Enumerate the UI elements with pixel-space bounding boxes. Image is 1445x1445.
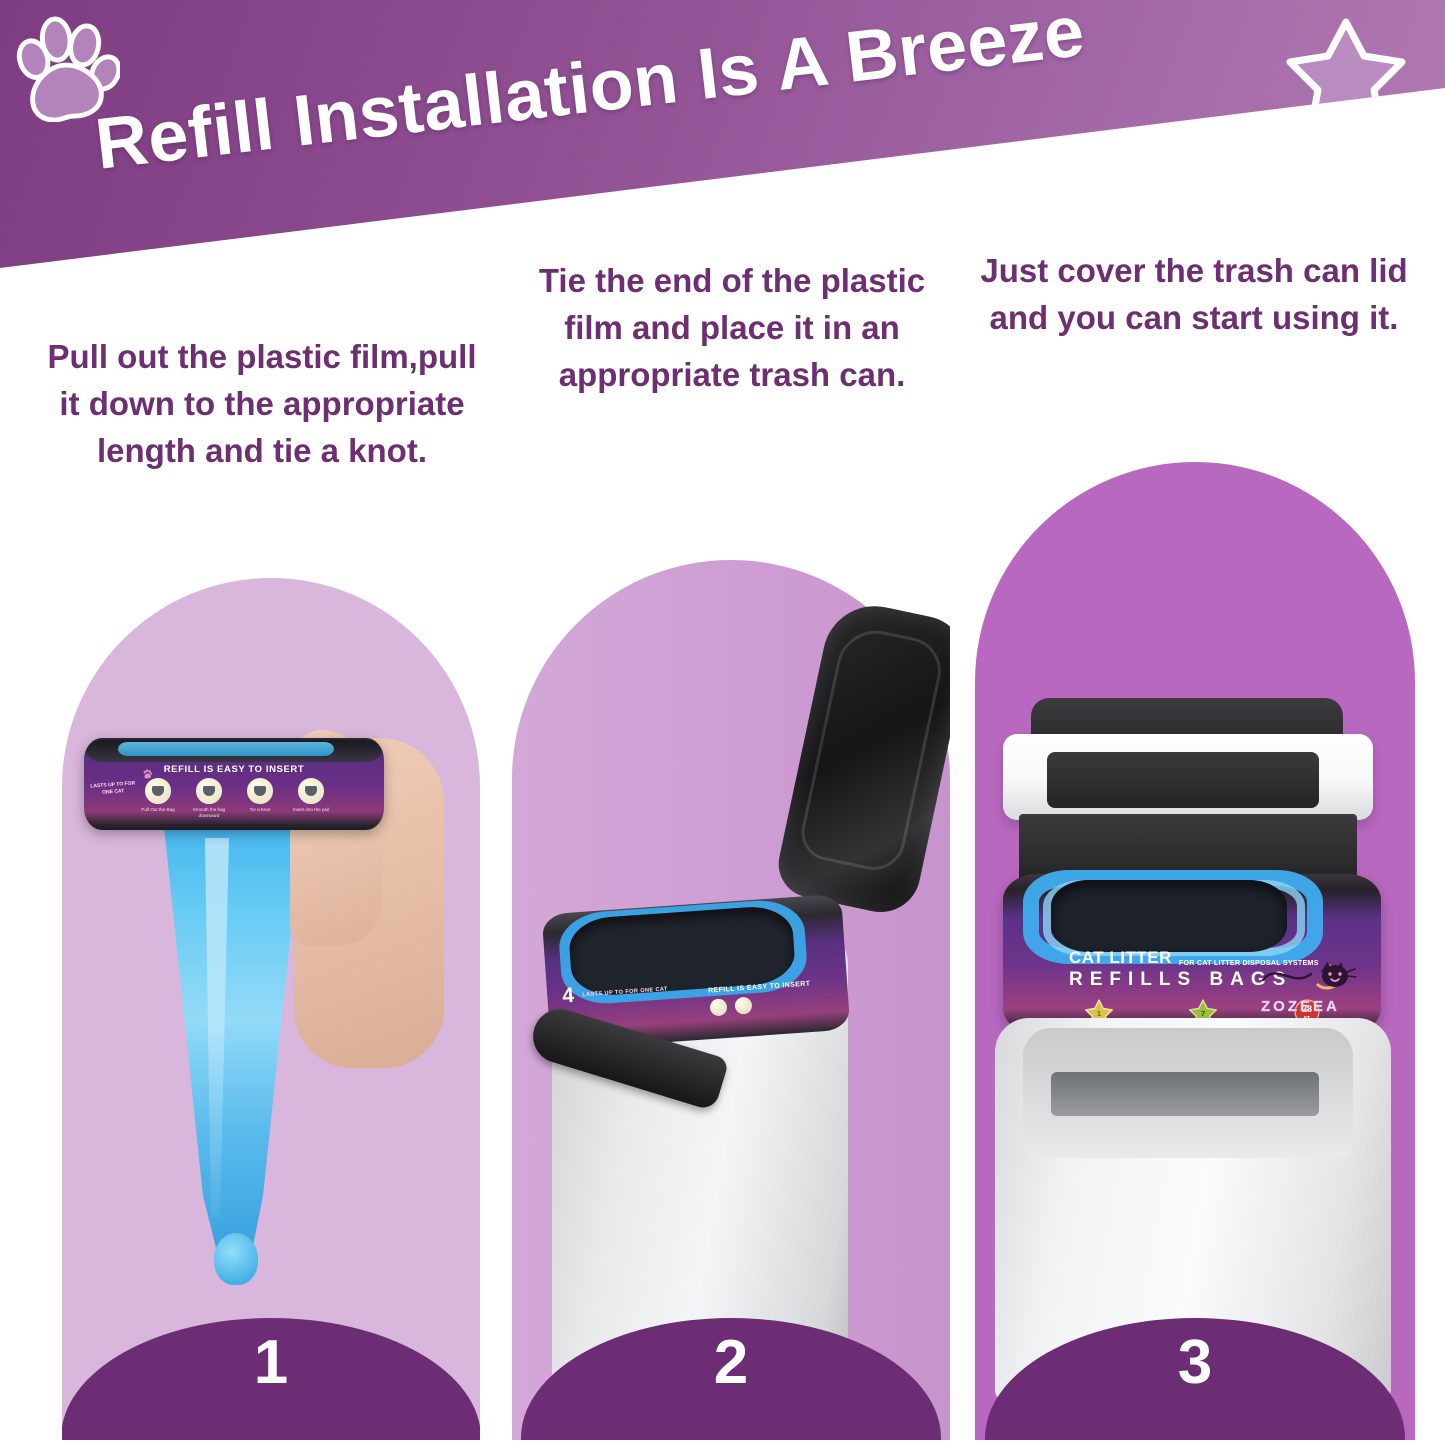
step-1-caption: Pull out the plastic film,pull it down t… bbox=[42, 334, 482, 475]
refill-cartridge: REFILL IS EASY TO INSERT LASTS UP TO FOR… bbox=[84, 738, 384, 830]
cartridge-opening bbox=[1051, 880, 1287, 952]
duration-number: 4 bbox=[562, 987, 575, 1007]
cartridge-mini-step: Smooth the bag downward bbox=[187, 778, 231, 818]
mini-step-icon bbox=[709, 998, 727, 1016]
svg-text:7: 7 bbox=[1201, 1009, 1205, 1018]
page-title: Refill Installation Is A Breeze bbox=[91, 0, 1283, 186]
trash-can-slot bbox=[1051, 1072, 1319, 1116]
step-1-photo: REFILL IS EASY TO INSERT LASTS UP TO FOR… bbox=[62, 578, 480, 1440]
step-number: 1 bbox=[254, 1332, 288, 1394]
film-knot bbox=[214, 1233, 258, 1285]
step-3-photo: CAT LITTER FOR CAT LITTER DISPOSAL SYSTE… bbox=[975, 462, 1415, 1440]
cartridge-mini-step-icons bbox=[709, 997, 752, 1017]
cartridge-mini-step: Tie a Knot bbox=[238, 778, 282, 818]
fingers bbox=[290, 816, 382, 946]
infographic-root: Refill Installation Is A Breeze Pull out… bbox=[0, 0, 1445, 1445]
mini-step-icon bbox=[247, 778, 273, 804]
cartridge-headline: REFILL IS EASY TO INSERT bbox=[84, 764, 384, 775]
lid-inner-edge bbox=[796, 623, 947, 875]
mini-step-label: Pull Out the Bag bbox=[136, 807, 180, 813]
plastic-film bbox=[158, 826, 308, 1256]
cartridge-side-text: LASTS UP TO FOR ONE CAT bbox=[88, 780, 139, 796]
step-3-caption: Just cover the trash can lid and you can… bbox=[978, 248, 1410, 342]
step-2-caption: Tie the end of the plastic film and plac… bbox=[512, 258, 952, 399]
duration-sub: LASTS UP TO FOR ONE CAT bbox=[582, 986, 668, 999]
mini-step-icon bbox=[196, 778, 222, 804]
step-2-image-panel: 4 LASTS UP TO FOR ONE CAT REFILL IS EASY… bbox=[512, 560, 950, 1440]
step-number: 2 bbox=[714, 1332, 748, 1394]
trash-can-lid-open bbox=[772, 597, 950, 920]
cat-face-icon bbox=[1259, 954, 1359, 1000]
mini-step-icon bbox=[734, 997, 752, 1015]
step-number: 3 bbox=[1178, 1332, 1212, 1394]
step-1-image-panel: REFILL IS EASY TO INSERT LASTS UP TO FOR… bbox=[62, 578, 480, 1440]
brand-logo: ZOZEEA bbox=[1259, 954, 1367, 1020]
cartridge-bag-top bbox=[118, 742, 334, 756]
mini-step-icon bbox=[298, 778, 324, 804]
mini-step-label: Tie a Knot bbox=[238, 807, 282, 813]
label-cat-litter: CAT LITTER bbox=[1069, 948, 1172, 968]
mini-step-label: Insert into the pail bbox=[289, 807, 333, 813]
brand-name: ZOZEEA bbox=[1261, 998, 1340, 1015]
cartridge-mini-step: Insert into the pail bbox=[289, 778, 333, 818]
cartridge-mini-step: Pull Out the Bag bbox=[136, 778, 180, 818]
header-banner: Refill Installation Is A Breeze bbox=[0, 0, 1445, 268]
lid-face-plate bbox=[1047, 752, 1319, 808]
mini-step-icon bbox=[145, 778, 171, 804]
star-icon bbox=[1284, 14, 1408, 138]
cartridge-mini-steps: Pull Out the Bag Smooth the bag downward… bbox=[136, 778, 336, 818]
step-2-photo: 4 LASTS UP TO FOR ONE CAT REFILL IS EASY… bbox=[512, 560, 950, 1440]
cartridge-product-label: CAT LITTER FOR CAT LITTER DISPOSAL SYSTE… bbox=[1011, 948, 1373, 1026]
mini-step-label: Smooth the bag downward bbox=[187, 807, 231, 818]
step-3-image-panel: CAT LITTER FOR CAT LITTER DISPOSAL SYSTE… bbox=[975, 462, 1415, 1440]
svg-text:1: 1 bbox=[1097, 1009, 1102, 1018]
